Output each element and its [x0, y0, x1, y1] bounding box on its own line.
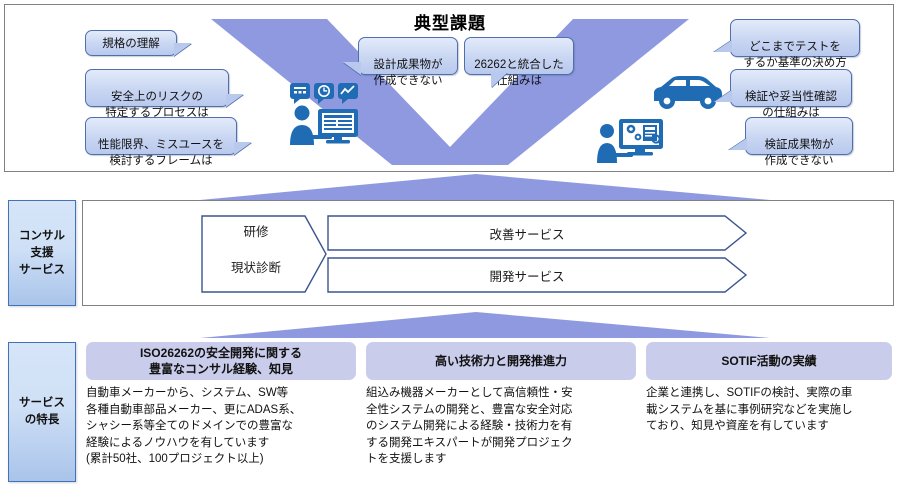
typical-issues-panel: 典型課題: [4, 4, 894, 172]
person-at-monitor-icon: [288, 83, 372, 145]
consulting-services-side-label: コンサル 支援 サービス: [8, 200, 76, 306]
feature-body: 企業と連携し、SOTIFの検討、実際の車 載システムを基に事例研究などを実施し …: [646, 385, 892, 435]
connector-arrow-bottom: [0, 312, 898, 340]
feature-body: 組込み機器メーカーとして高信頼性・安 全性システムの開発と、豊富な安全対応 のシ…: [366, 385, 636, 468]
feature-card-sotif: SOTIF活動の実績 企業と連携し、SOTIFの検討、実際の車 載システムを基に…: [646, 342, 892, 435]
consulting-services-panel: 研修 現状診断 改善サービス 開発サービス: [82, 200, 894, 306]
connector-arrow-top: [0, 174, 898, 202]
feature-heading: SOTIF活動の実績: [646, 342, 892, 380]
callout-safety-risk-process[interactable]: 安全上のリスクの 特定するプロセスは: [85, 69, 229, 107]
bubble-tail-icon: [491, 73, 507, 88]
bubble-tail-icon: [714, 40, 732, 52]
service-features-side-label: サービス の特長: [8, 342, 76, 482]
callout-standard-understanding[interactable]: 規格の理解: [85, 30, 177, 56]
callout-integrate-26262[interactable]: 26262と統合した 仕組みは: [464, 37, 574, 75]
bubble-tail-icon: [234, 142, 252, 155]
feature-card-iso26262: ISO26262の安全開発に関する 豊富なコンサル経験、知見 自動車メーカーから…: [86, 342, 356, 468]
callout-performance-misuse-frame[interactable]: 性能限界、ミスユースを 検討するフレームは: [85, 117, 237, 155]
feature-heading: 高い技術力と開発推進力: [366, 342, 636, 380]
callout-verification-deliverable[interactable]: 検証成果物が 作成できない: [745, 117, 853, 155]
bubble-tail-icon: [729, 138, 747, 150]
feature-card-technical-capability: 高い技術力と開発推進力 組込み機器メーカーとして高信頼性・安 全性システムの開発…: [366, 342, 636, 468]
feature-heading: ISO26262の安全開発に関する 豊富なコンサル経験、知見: [86, 342, 356, 380]
service-improvement-label[interactable]: 改善サービス: [327, 224, 727, 243]
callout-verification-validation[interactable]: 検証や妥当性確認 の仕組みは: [730, 69, 852, 107]
feature-body: 自動車メーカーから、システム、SW等 各種自動車部品メーカー、更にADAS系、 …: [86, 385, 356, 468]
bubble-tail-icon: [343, 62, 361, 75]
bubble-tail-icon: [226, 94, 244, 107]
phase-diagnosis[interactable]: 現状診断: [201, 257, 311, 276]
person-at-settings-monitor-icon: [597, 115, 667, 163]
callout-test-criteria[interactable]: どこまでテストを するか基準の決め方: [730, 19, 860, 57]
phase-training[interactable]: 研修: [201, 221, 311, 240]
service-development-label[interactable]: 開発サービス: [327, 266, 727, 285]
bubble-tail-icon: [174, 43, 192, 56]
bubble-tail-icon: [714, 90, 732, 102]
callout-design-deliverable[interactable]: 設計成果物が 作成できない: [358, 37, 458, 75]
